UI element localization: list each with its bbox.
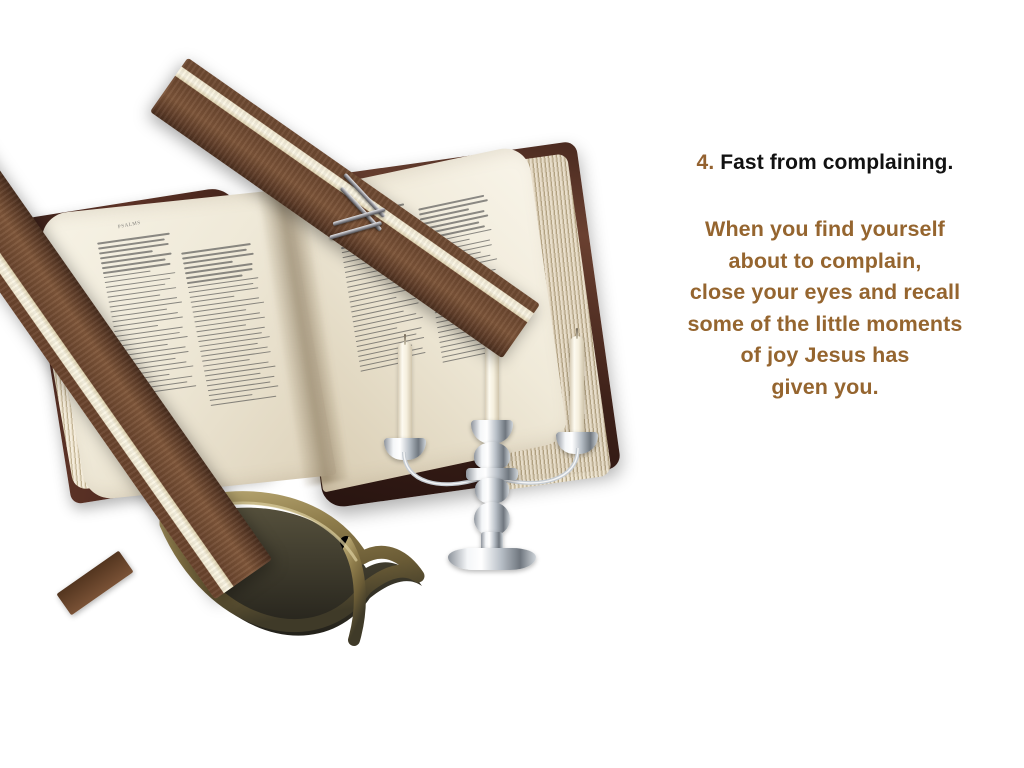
body-line: some of the little moments (630, 309, 1020, 341)
cross-beam-end-cap (56, 551, 133, 616)
text-panel: 4. Fast from complaining. When you find … (630, 150, 1020, 403)
body-line: When you find yourself (630, 214, 1020, 246)
slide-canvas: PSALMS PSALMS (0, 0, 1024, 768)
heading-title: Fast from complaining. (720, 151, 953, 174)
wooden-cross (0, 10, 640, 670)
body-line: of joy Jesus has (630, 340, 1020, 372)
body-line: given you. (630, 372, 1020, 404)
cross-beam-vertical (0, 101, 272, 600)
page-title: 4. Fast from complaining. (630, 150, 1020, 176)
devotional-photo: PSALMS PSALMS (0, 10, 640, 670)
body-line: about to complain, (630, 246, 1020, 278)
heading-number: 4. (697, 151, 715, 174)
body-line: close your eyes and recall (630, 277, 1020, 309)
body-text: When you find yourself about to complain… (630, 214, 1020, 403)
